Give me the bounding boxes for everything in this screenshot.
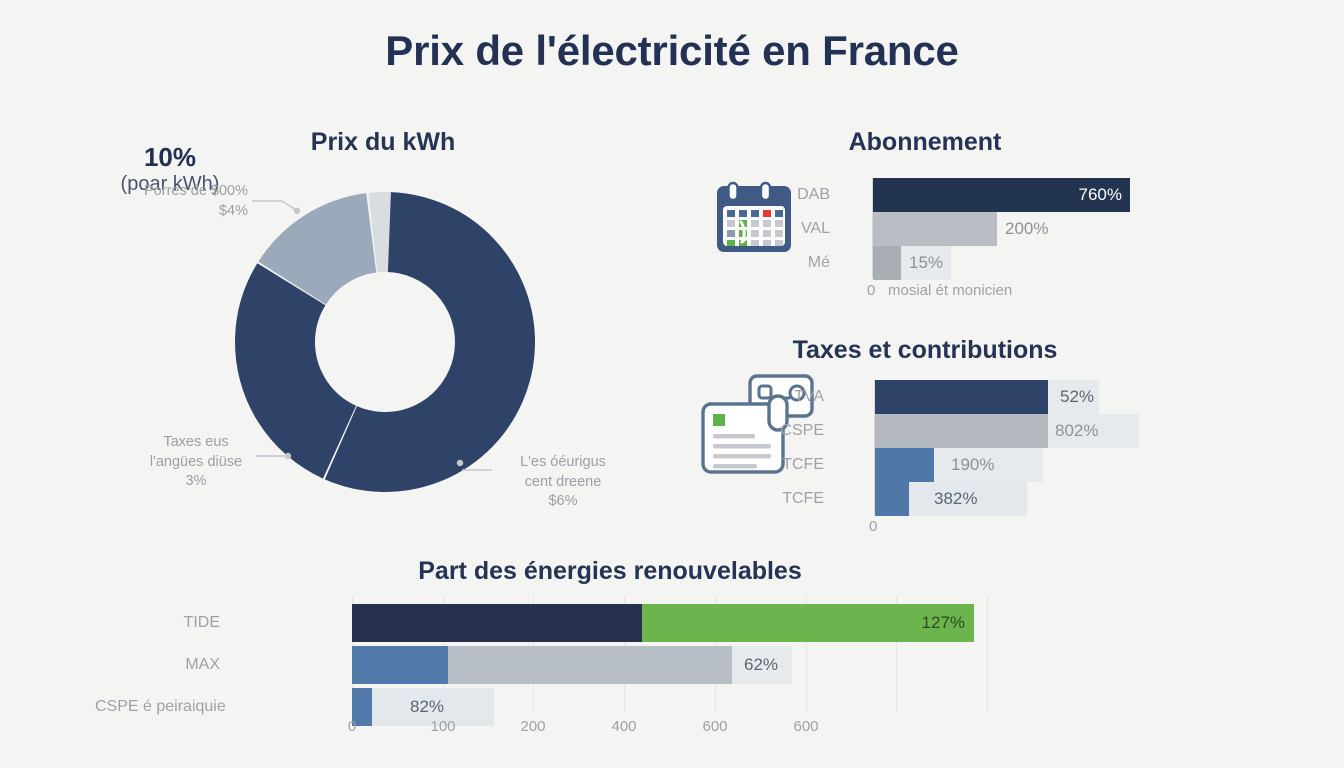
taxes-cat-tva: TVA [780, 380, 824, 414]
taxes-bar-cspe [875, 414, 1048, 448]
renouvelables-value-max: 62% [744, 646, 778, 684]
infographic-canvas: Prix de l'électricité en France Prix du … [0, 0, 1344, 768]
taxes-value-tcfe-1: 190% [951, 448, 994, 482]
renouvelables-cat-cspe: CSPE é peiraiquie [95, 688, 220, 726]
taxes-value-tcfe-2: 382% [934, 482, 977, 516]
renouvelables-tick-0: 0 [332, 718, 372, 735]
donut-callout-3-line2: cent dreene [498, 473, 628, 493]
abonnement-bar-me [873, 246, 901, 280]
abonnement-cat-me: Mé [794, 246, 830, 280]
abonnement-bar-val [873, 212, 997, 246]
renouvelables-bar-tide-base [352, 604, 642, 642]
renouvelables-bar-chart: TIDE 127% MAX 62% CSPE é peiraiquie [220, 600, 1010, 740]
abonnement-cat-dab: DAB [794, 178, 830, 212]
donut-callout-2-line1: Taxes eus [140, 433, 252, 453]
abonnement-value-dab: 760% [1079, 178, 1122, 212]
taxes-value-tva: 52% [1060, 380, 1094, 414]
taxes-cat-cspe: CSPE [780, 414, 824, 448]
taxes-bar-tcfe-1 [875, 448, 934, 482]
donut-panel-title: Prix du kWh [0, 128, 766, 157]
taxes-value-cspe: 802% [1055, 414, 1098, 448]
renouvelables-tick-600b: 600 [786, 718, 826, 735]
donut-callout-3-line3: $6% [498, 492, 628, 512]
donut-callout-1-line1: Porres de $00% [128, 182, 248, 202]
renouvelables-bar-max-base [352, 646, 448, 684]
renouvelables-tick-400: 400 [604, 718, 644, 735]
abonnement-panel-title: Abonnement [690, 128, 1160, 157]
donut-callout-2-line2: l'angües diüse [140, 453, 252, 473]
abonnement-cat-val: VAL [794, 212, 830, 246]
taxes-cat-tcfe-1: TCFE [780, 448, 824, 482]
abonnement-value-me: 15% [909, 246, 943, 280]
taxes-panel-title: Taxes et contributions [690, 336, 1160, 365]
renouvelables-tick-200: 200 [513, 718, 553, 735]
taxes-axis-zero: 0 [869, 518, 877, 535]
taxes-cat-tcfe-2: TCFE [780, 482, 824, 516]
renouvelables-value-tide: 127% [922, 604, 965, 642]
donut-callout-1: Porres de $00% $4% [128, 182, 248, 221]
taxes-bar-tva [875, 380, 1048, 414]
abonnement-value-val: 200% [1005, 212, 1048, 246]
donut-callout-1-line2: $4% [128, 202, 248, 222]
calendar-icon [707, 172, 801, 266]
renouvelables-tick-600a: 600 [695, 718, 735, 735]
donut-callout-3: L'es óéurigus cent dreene $6% [498, 453, 628, 512]
donut-callout-3-line1: L'es óéurigus [498, 453, 628, 473]
taxes-bar-chart: TVA 52% CSPE 802% TCFE 190% T [824, 380, 1154, 530]
abonnement-axis-note: mosial ét monicien [888, 282, 1012, 299]
renouvelables-panel-title: Part des énergies renouvelables [200, 557, 1020, 586]
renouvelables-cat-tide: TIDE [95, 604, 220, 642]
donut-callout-2-line3: 3% [140, 472, 252, 492]
renouvelables-cat-max: MAX [95, 646, 220, 684]
taxes-bar-tcfe-2 [875, 482, 909, 516]
abonnement-axis-zero: 0 [867, 282, 875, 299]
donut-callout-2: Taxes eus l'angües diüse 3% [140, 433, 252, 492]
renouvelables-tick-100: 100 [423, 718, 463, 735]
page-title: Prix de l'électricité en France [0, 27, 1344, 75]
abonnement-bar-chart: DAB 760% VAL 200% Mé 15% 0 mosial ét mon… [830, 178, 1150, 298]
